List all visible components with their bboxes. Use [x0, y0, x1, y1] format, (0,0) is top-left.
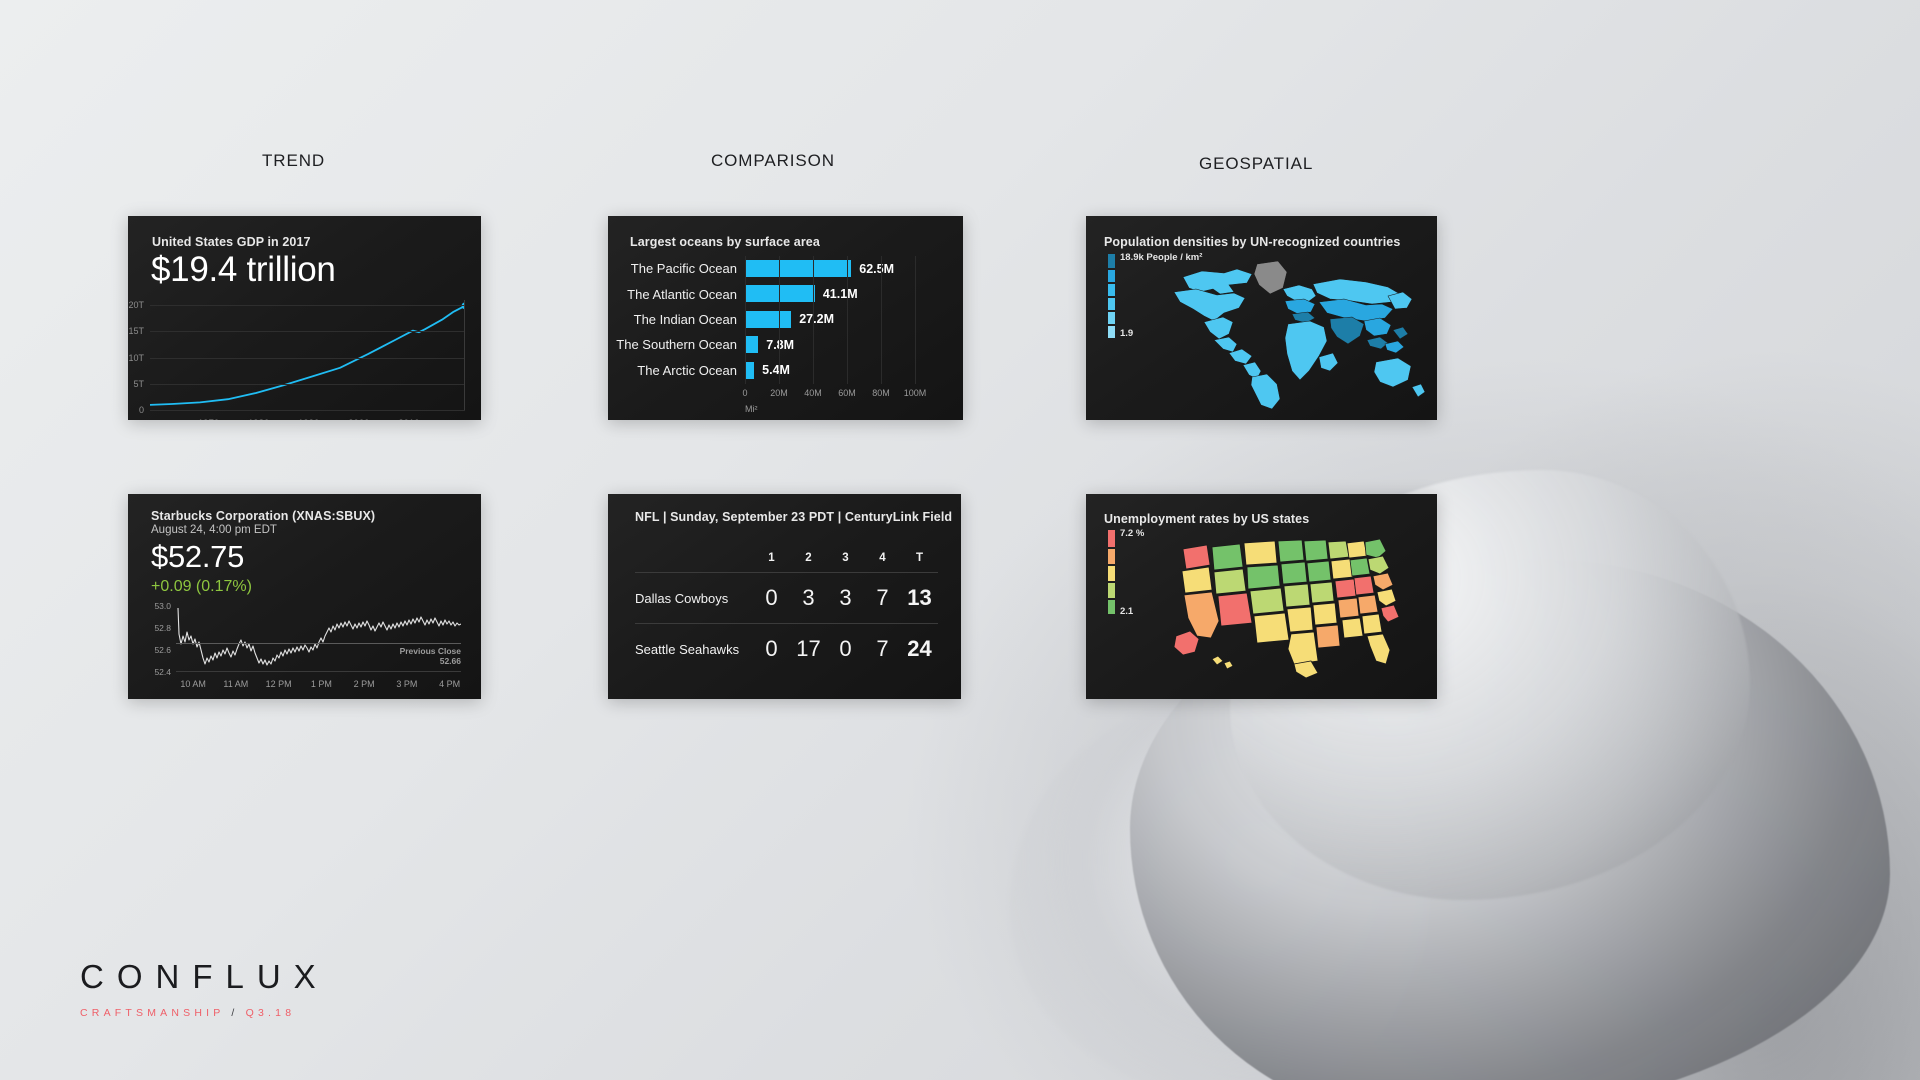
- bar-label-indian: The Indian Ocean: [608, 312, 745, 327]
- sbux-previous-close-text: Previous Close: [400, 646, 461, 657]
- popmap-legend-min-label: 1.9: [1120, 328, 1133, 339]
- bar-value-atlantic: 41.1M: [823, 287, 858, 301]
- nfl-cowboys-q4: 7: [864, 573, 901, 624]
- gdp-axis-right: [464, 300, 465, 410]
- gdp-xtick-1970: 1970: [198, 418, 219, 420]
- nfl-seahawks-q3: 0: [827, 624, 864, 675]
- gdp-ytick-5t: 5T: [133, 379, 144, 389]
- sbux-ytick-528: 52.8: [154, 623, 171, 633]
- bar-row: The Pacific Ocean 62.5M: [608, 256, 963, 281]
- brand-lockup: CONFLUX CRAFTSMANSHIP / Q3.18: [80, 960, 329, 1019]
- sbux-xtick-11am: 11 AM: [223, 679, 248, 689]
- nfl-col-q2: 2: [790, 552, 827, 573]
- gdp-ytick-15t: 15T: [128, 326, 144, 336]
- bar-value-pacific: 62.5M: [859, 262, 894, 276]
- oceans-bar-chart: The Pacific Ocean 62.5M The Atlantic Oce…: [608, 256, 963, 383]
- section-title-comparison: COMPARISON: [711, 151, 835, 171]
- nfl-cowboys-q2: 3: [790, 573, 827, 624]
- gdp-line-chart-plot: 20T 15T 10T 5T 0 1970 1980 1990 2000 201…: [150, 300, 465, 410]
- table-row: Seattle Seahawks 0 17 0 7 24: [635, 624, 938, 675]
- sbux-ytick-524: 52.4: [154, 667, 171, 677]
- brand-name: CONFLUX: [80, 960, 329, 993]
- usmap-legend-gradient: [1108, 530, 1115, 614]
- sbux-line-chart-plot: 53.0 52.8 52.6 52.4 Previous Close 52.66…: [176, 606, 461, 672]
- bar-track: 5.4M: [745, 358, 915, 383]
- brand-edition: Q3.18: [246, 1007, 296, 1019]
- nfl-col-q4: 4: [864, 552, 901, 573]
- oceans-xtick-40m: 40M: [804, 388, 822, 398]
- gdp-card-title: United States GDP in 2017: [152, 235, 311, 249]
- oceans-axis-unit-label: Mi²: [745, 404, 758, 414]
- sbux-baseline: [176, 671, 461, 672]
- bar-fill-indian: [745, 311, 791, 328]
- nfl-cowboys-q1: 0: [753, 573, 790, 624]
- world-choropleth-map[interactable]: [1154, 246, 1429, 411]
- bar-label-atlantic: The Atlantic Ocean: [608, 287, 745, 302]
- nfl-col-total: T: [901, 552, 938, 573]
- gdp-xtick-1980: 1980: [248, 418, 269, 420]
- brand-separator: /: [231, 1007, 238, 1019]
- sbux-price: $52.75: [151, 539, 244, 575]
- sbux-ytick-530: 53.0: [154, 601, 171, 611]
- nfl-seahawks-q2: 17: [790, 624, 827, 675]
- card-starbucks-quote[interactable]: Starbucks Corporation (XNAS:SBUX) August…: [128, 494, 481, 699]
- sbux-xtick-2pm: 2 PM: [354, 679, 375, 689]
- usmap-legend-max-label: 7.2 %: [1120, 528, 1144, 539]
- gdp-ytick-10t: 10T: [128, 353, 144, 363]
- sbux-timestamp: August 24, 4:00 pm EDT: [151, 524, 277, 536]
- bar-fill-arctic: [745, 362, 754, 379]
- sbux-ytick-526: 52.6: [154, 645, 171, 655]
- sbux-change: +0.09 (0.17%): [151, 578, 252, 596]
- bar-label-arctic: The Arctic Ocean: [608, 363, 745, 378]
- popmap-legend-gradient: [1108, 254, 1115, 338]
- section-title-trend: TREND: [262, 151, 325, 171]
- nfl-score-table: 1 2 3 4 T Dallas Cowboys 0 3 3 7 13: [635, 552, 938, 674]
- bar-label-southern: The Southern Ocean: [608, 337, 745, 352]
- sbux-xtick-1pm: 1 PM: [311, 679, 332, 689]
- nfl-cowboys-total: 13: [901, 573, 938, 624]
- brand-tagline-text: CRAFTSMANSHIP: [80, 1007, 224, 1019]
- bar-value-indian: 27.2M: [799, 312, 834, 326]
- gdp-xtick-2000: 2000: [348, 418, 369, 420]
- oceans-xtick-20m: 20M: [770, 388, 788, 398]
- sbux-xtick-4pm: 4 PM: [439, 679, 460, 689]
- sbux-previous-close-value: 52.66: [400, 656, 461, 667]
- sbux-xtick-10am: 10 AM: [180, 679, 206, 689]
- bar-row: The Arctic Ocean 5.4M: [608, 358, 963, 383]
- sbux-xtick-12pm: 12 PM: [266, 679, 292, 689]
- gdp-ytick-20t: 20T: [128, 300, 144, 310]
- nfl-seahawks-q1: 0: [753, 624, 790, 675]
- usmap-legend-min-label: 2.1: [1120, 606, 1133, 617]
- table-header-row: 1 2 3 4 T: [635, 552, 938, 573]
- us-choropleth-map[interactable]: [1168, 530, 1418, 682]
- brand-tagline: CRAFTSMANSHIP / Q3.18: [80, 1007, 329, 1019]
- sbux-previous-close-label: Previous Close 52.66: [400, 646, 461, 667]
- bar-track: 41.1M: [745, 281, 915, 306]
- nfl-col-team: [635, 552, 753, 573]
- nfl-card-title: NFL | Sunday, September 23 PDT | Century…: [635, 510, 952, 524]
- oceans-xtick-80m: 80M: [872, 388, 890, 398]
- bar-row: The Atlantic Ocean 41.1M: [608, 281, 963, 306]
- bar-row: The Indian Ocean 27.2M: [608, 307, 963, 332]
- sbux-xtick-3pm: 3 PM: [396, 679, 417, 689]
- card-population-density-map[interactable]: Population densities by UN-recognized co…: [1086, 216, 1437, 420]
- sbux-previous-close-line: [176, 643, 461, 644]
- card-nfl-scoreboard[interactable]: NFL | Sunday, September 23 PDT | Century…: [608, 494, 961, 699]
- table-row: Dallas Cowboys 0 3 3 7 13: [635, 573, 938, 624]
- nfl-col-q3: 3: [827, 552, 864, 573]
- bar-value-arctic: 5.4M: [762, 363, 790, 377]
- oceans-xtick-60m: 60M: [838, 388, 856, 398]
- nfl-seahawks-total: 24: [901, 624, 938, 675]
- bar-fill-southern: [745, 336, 758, 353]
- bar-track: 62.5M: [745, 256, 915, 281]
- gdp-ytick-0: 0: [139, 405, 144, 415]
- nfl-cowboys-q3: 3: [827, 573, 864, 624]
- sbux-card-title: Starbucks Corporation (XNAS:SBUX): [151, 509, 375, 523]
- card-largest-oceans[interactable]: Largest oceans by surface area The Pacif…: [608, 216, 963, 420]
- bar-row: The Southern Ocean 7.8M: [608, 332, 963, 357]
- oceans-xtick-0: 0: [742, 388, 747, 398]
- bar-value-southern: 7.8M: [766, 338, 794, 352]
- bar-label-pacific: The Pacific Ocean: [608, 261, 745, 276]
- nfl-seahawks-q4: 7: [864, 624, 901, 675]
- oceans-card-title: Largest oceans by surface area: [630, 235, 820, 249]
- section-title-geospatial: GEOSPATIAL: [1199, 154, 1313, 174]
- bar-fill-pacific: [745, 260, 851, 277]
- bar-track: 7.8M: [745, 332, 915, 357]
- card-unemployment-map[interactable]: Unemployment rates by US states 7.2 % 2.…: [1086, 494, 1437, 699]
- gdp-line-series: [150, 300, 465, 410]
- nfl-team-seahawks: Seattle Seahawks: [635, 624, 753, 675]
- gdp-headline-value: $19.4 trillion: [151, 250, 336, 290]
- bar-track: 27.2M: [745, 307, 915, 332]
- gdp-xtick-1990: 1990: [298, 418, 319, 420]
- nfl-team-cowboys: Dallas Cowboys: [635, 573, 753, 624]
- oceans-xtick-100m: 100M: [904, 388, 927, 398]
- nfl-col-q1: 1: [753, 552, 790, 573]
- gdp-xtick-2010: 2010: [398, 418, 419, 420]
- oceans-x-axis: 0 20M 40M 60M 80M 100M: [745, 384, 915, 385]
- usmap-card-title: Unemployment rates by US states: [1104, 512, 1309, 526]
- card-us-gdp[interactable]: United States GDP in 2017 $19.4 trillion…: [128, 216, 481, 420]
